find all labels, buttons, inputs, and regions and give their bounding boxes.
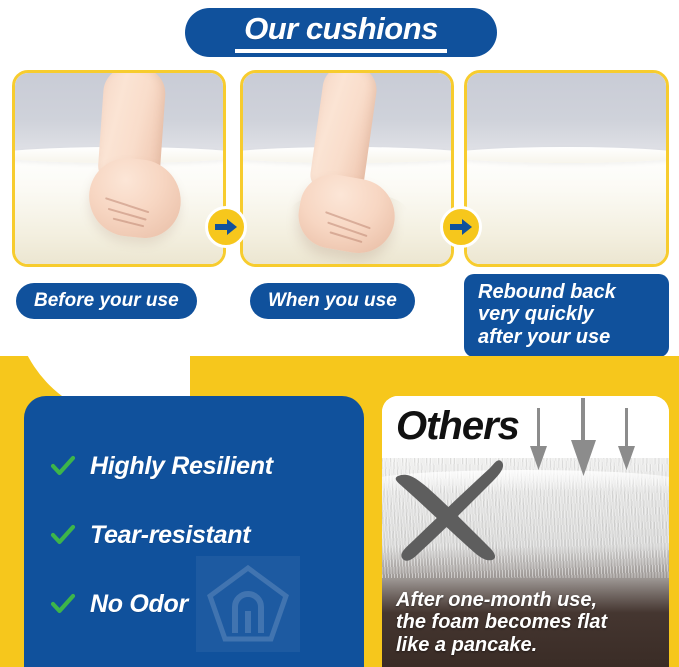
- page-title: Our cushions: [244, 13, 438, 44]
- title-underline: [235, 49, 447, 53]
- step-label-during: When you use: [250, 283, 415, 319]
- photo-background-wall: [467, 73, 666, 157]
- infographic-page: Our cushions: [0, 0, 679, 667]
- others-caption-line-1: After one-month use,: [396, 589, 661, 612]
- features-panel: Highly Resilient Tear-resistant No Odor: [24, 396, 364, 667]
- check-icon: [50, 522, 76, 548]
- step-photo-after: [464, 70, 669, 267]
- others-caption: After one-month use, the foam becomes fl…: [396, 589, 661, 657]
- feature-item: Highly Resilient: [50, 438, 350, 494]
- arrow-right-icon: [440, 206, 482, 248]
- scene-after: [467, 73, 666, 264]
- step-photos: [0, 70, 679, 270]
- step-label-after-line-3: after your use: [478, 326, 657, 348]
- step-label-after-line-2: very quickly: [478, 303, 657, 325]
- others-caption-line-3: like a pancake.: [396, 634, 661, 657]
- foam-front-edge: [467, 147, 666, 163]
- foam-surface: [467, 151, 666, 264]
- step-photo-during: [240, 70, 454, 267]
- page-title-badge: Our cushions: [185, 8, 497, 57]
- step-label-after-line-1: Rebound back: [478, 281, 657, 303]
- arrow-right-glyph: [449, 217, 473, 237]
- others-title: Others: [396, 404, 519, 449]
- step-label-before: Before your use: [16, 283, 197, 319]
- others-panel: Others After one-month use, the foam bec…: [382, 396, 669, 667]
- scene-during: [243, 73, 451, 264]
- arrow-down-icon: [520, 398, 650, 478]
- pentagon-house-logo-icon: [196, 556, 300, 652]
- arrow-right-glyph: [214, 217, 238, 237]
- others-caption-line-2: the foam becomes flat: [396, 611, 661, 634]
- feature-label: Tear-resistant: [90, 521, 250, 550]
- check-icon: [50, 591, 76, 617]
- pentagon-house-logo-glyph: [205, 563, 291, 645]
- step-label-after: Rebound back very quickly after your use: [464, 274, 669, 357]
- step-photo-before: [12, 70, 226, 267]
- check-icon: [50, 453, 76, 479]
- feature-label: No Odor: [90, 590, 188, 619]
- feature-item: Tear-resistant: [50, 507, 350, 563]
- arrow-right-icon: [205, 206, 247, 248]
- feature-label: Highly Resilient: [90, 452, 273, 481]
- scene-before: [15, 73, 223, 264]
- x-cross-brush-icon: [386, 448, 526, 568]
